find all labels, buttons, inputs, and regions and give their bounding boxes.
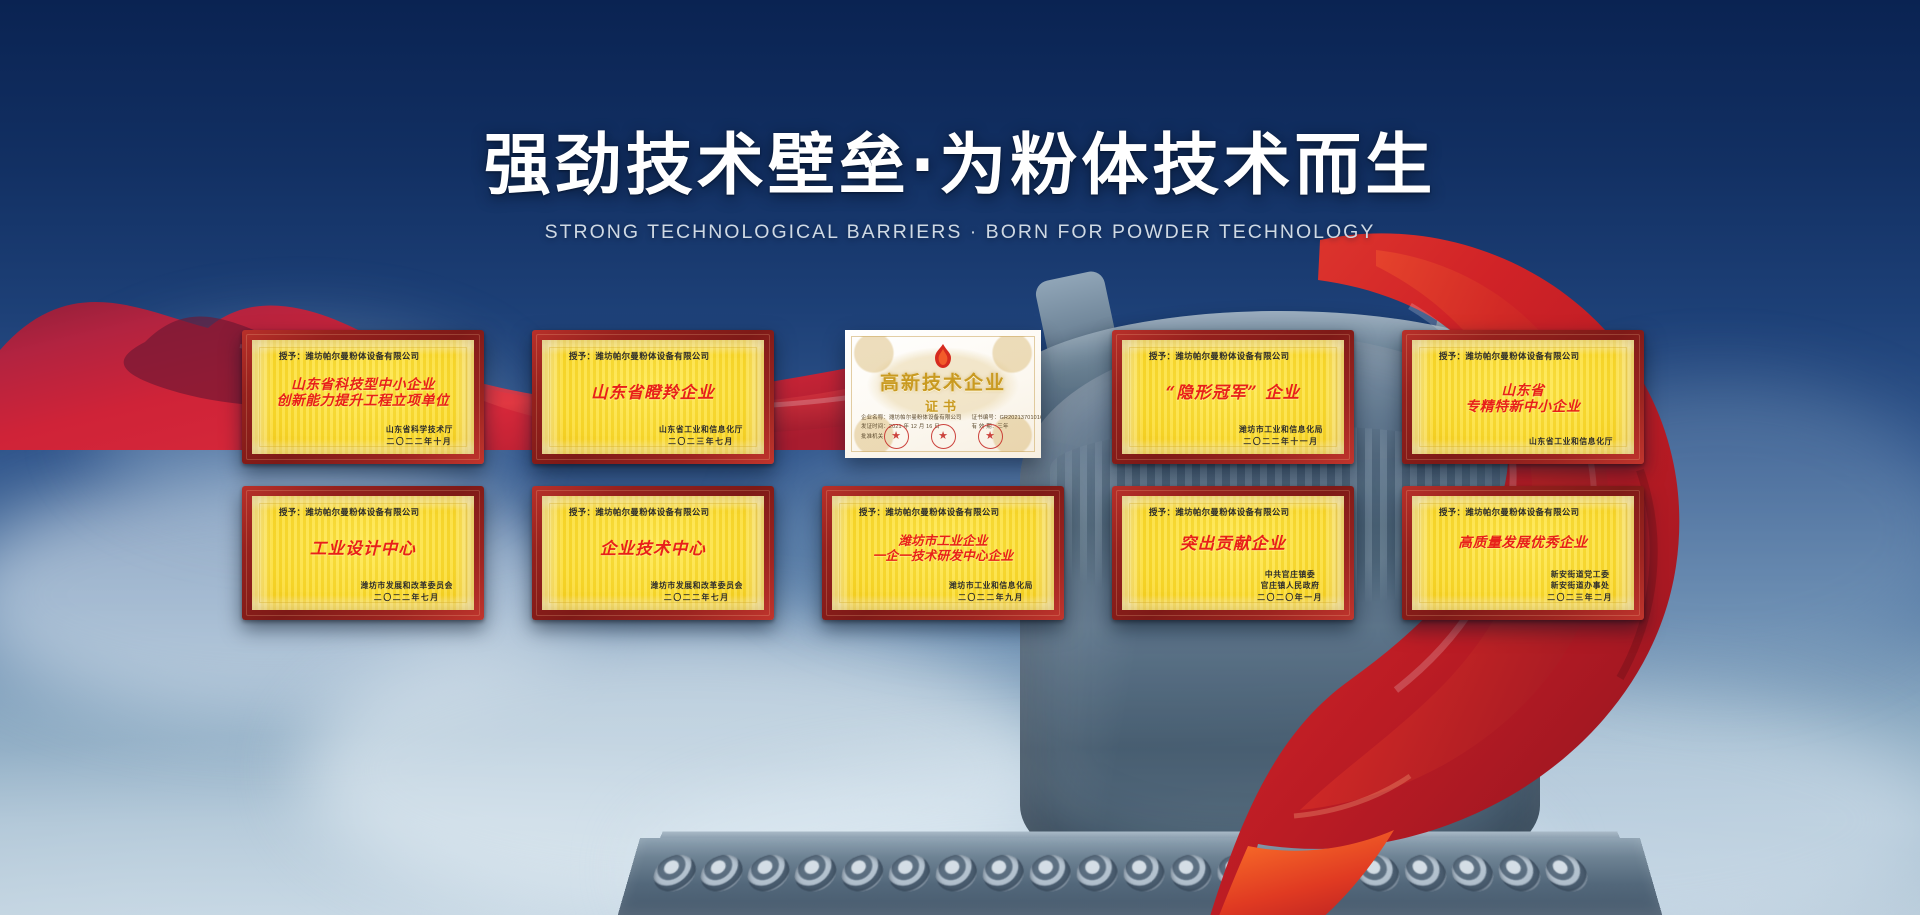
award-issuer-line: 山东省工业和信息化厅 [1529,436,1613,447]
award-grantee: 授予：潍坊帕尔曼粉体设备有限公司 [279,506,419,518]
award-issuer: 山东省工业和信息化厅 二〇二三年七月 [659,424,743,447]
plinth-medallion [697,855,746,892]
plinth-medallion-row [624,853,1656,894]
award-issuer: 新安街道党工委 新安街道办事处 二〇二三年二月 [1547,569,1613,603]
plinth-medallion [1495,855,1544,892]
award-title: 企业技术中心 [553,518,753,580]
award-date: 二〇二〇年一月 [1257,592,1323,603]
award-issuer-line: 潍坊市工业和信息化局 [1239,424,1323,435]
award-plate: 授予：潍坊帕尔曼粉体设备有限公司 高质量发展优秀企业 新安街道党工委 新安街道办… [1412,496,1634,610]
award-cell: 高新技术企业 证书 企业名称：潍坊帕尔曼粉体设备有限公司 发证时间：2021 年… [798,330,1088,464]
award-plate: 授予：潍坊帕尔曼粉体设备有限公司 山东省 专精特新中小企业 山东省工业和信息化厅 [1412,340,1634,454]
award-plaque[interactable]: 授予：潍坊帕尔曼粉体设备有限公司 潍坊市工业企业 一企一技术研发中心企业 潍坊市… [822,486,1064,620]
plinth-medallion [1310,855,1355,892]
award-title-line: “隐形冠军” 企业 [1166,383,1301,402]
award-plaque[interactable]: 授予：潍坊帕尔曼粉体设备有限公司 突出贡献企业 中共官庄镇委 官庄镇人民政府 二… [1112,486,1354,620]
award-issuer: 山东省工业和信息化厅 [1529,436,1613,447]
award-title-line: 企业技术中心 [600,539,706,558]
award-plate: 授予：潍坊帕尔曼粉体设备有限公司 突出贡献企业 中共官庄镇委 官庄镇人民政府 二… [1122,496,1344,610]
plinth-medallion [886,855,932,892]
headline-block: 强劲技术壁垒·为粉体技术而生 STRONG TECHNOLOGICAL BARR… [0,128,1920,244]
award-plaque[interactable]: 授予：潍坊帕尔曼粉体设备有限公司 山东省 专精特新中小企业 山东省工业和信息化厅 [1402,330,1644,464]
award-cell: 授予：潍坊帕尔曼粉体设备有限公司 山东省 专精特新中小企业 山东省工业和信息化厅 [1378,330,1668,464]
award-cell: 授予：潍坊帕尔曼粉体设备有限公司 “隐形冠军” 企业 潍坊市工业和信息化局 二〇… [1088,330,1378,464]
flame-icon [932,344,954,368]
award-cell: 授予：潍坊帕尔曼粉体设备有限公司 企业技术中心 潍坊市发展和改革委员会 二〇二二… [508,486,798,620]
award-plaque[interactable]: 授予：潍坊帕尔曼粉体设备有限公司 高质量发展优秀企业 新安街道党工委 新安街道办… [1402,486,1644,620]
award-title: 突出贡献企业 [1133,518,1333,569]
award-grantee: 授予：潍坊帕尔曼粉体设备有限公司 [859,506,999,518]
award-grantee: 授予：潍坊帕尔曼粉体设备有限公司 [1149,350,1289,362]
plinth-medallion [1356,855,1402,892]
plinth-medallion [1449,855,1497,892]
award-plaque[interactable]: 授予：潍坊帕尔曼粉体设备有限公司 “隐形冠军” 企业 潍坊市工业和信息化局 二〇… [1112,330,1354,464]
award-grantee: 授予：潍坊帕尔曼粉体设备有限公司 [1439,350,1579,362]
award-plaque[interactable]: 授予：潍坊帕尔曼粉体设备有限公司 山东省瞪羚企业 山东省工业和信息化厅 二〇二三… [532,330,774,464]
awards-row-1: 授予：潍坊帕尔曼粉体设备有限公司 山东省科技型中小企业 创新能力提升工程立项单位… [218,330,1718,464]
plinth-medallion [1542,855,1592,892]
plinth-medallion [981,855,1025,892]
award-plate: 授予：潍坊帕尔曼粉体设备有限公司 潍坊市工业企业 一企一技术研发中心企业 潍坊市… [832,496,1054,610]
plinth-medallion [1124,855,1165,892]
award-title-line: 一企一技术研发中心企业 [873,549,1014,564]
award-issuer: 潍坊市工业和信息化局 二〇二二年九月 [949,580,1033,603]
award-cell: 授予：潍坊帕尔曼粉体设备有限公司 潍坊市工业企业 一企一技术研发中心企业 潍坊市… [798,486,1088,620]
banner-stage: 强劲技术壁垒·为粉体技术而生 STRONG TECHNOLOGICAL BARR… [0,0,1920,915]
award-date: 二〇二二年十一月 [1239,436,1323,447]
award-issuer: 中共官庄镇委 官庄镇人民政府 二〇二〇年一月 [1257,569,1323,603]
plinth-medallion [1263,855,1307,892]
award-title-line: 山东省瞪羚企业 [591,383,715,402]
page-title: 强劲技术壁垒·为粉体技术而生 [0,128,1920,203]
page-subtitle: STRONG TECHNOLOGICAL BARRIERS · BORN FOR… [0,221,1920,244]
award-date: 二〇二三年七月 [659,436,743,447]
award-cell: 授予：潍坊帕尔曼粉体设备有限公司 工业设计中心 潍坊市发展和改革委员会 二〇二二… [218,486,508,620]
award-issuer-line: 潍坊市工业和信息化局 [949,580,1033,591]
award-date: 二〇二二年七月 [651,592,743,603]
plinth-medallion [839,855,886,892]
certificate-title-main: 高新技术企业 [845,368,1041,395]
award-plate: 授予：潍坊帕尔曼粉体设备有限公司 工业设计中心 潍坊市发展和改革委员会 二〇二二… [252,496,474,610]
award-plaque[interactable]: 授予：潍坊帕尔曼粉体设备有限公司 山东省科技型中小企业 创新能力提升工程立项单位… [242,330,484,464]
award-issuer-line: 新安街道党工委 [1547,569,1613,580]
award-title: 山东省科技型中小企业 创新能力提升工程立项单位 [263,362,463,424]
plinth-medallion [1029,855,1072,892]
awards-row-2: 授予：潍坊帕尔曼粉体设备有限公司 工业设计中心 潍坊市发展和改革委员会 二〇二二… [218,486,1718,620]
certificate-field: 企业名称：潍坊帕尔曼粉体设备有限公司 [861,414,962,423]
award-title-line: 创新能力提升工程立项单位 [277,393,450,409]
awards-gallery: 授予：潍坊帕尔曼粉体设备有限公司 山东省科技型中小企业 创新能力提升工程立项单位… [218,330,1718,620]
award-date: 二〇二二年七月 [361,592,453,603]
award-plaque[interactable]: 授予：潍坊帕尔曼粉体设备有限公司 企业技术中心 潍坊市发展和改革委员会 二〇二二… [532,486,774,620]
award-title: 山东省 专精特新中小企业 [1423,362,1623,436]
award-title: “隐形冠军” 企业 [1133,362,1333,424]
award-plate: 授予：潍坊帕尔曼粉体设备有限公司 山东省瞪羚企业 山东省工业和信息化厅 二〇二三… [542,340,764,454]
award-grantee: 授予：潍坊帕尔曼粉体设备有限公司 [1149,506,1289,518]
award-title-line: 专精特新中小企业 [1465,399,1580,415]
award-grantee: 授予：潍坊帕尔曼粉体设备有限公司 [279,350,419,362]
award-date: 二〇二二年十月 [386,436,453,447]
certificate-title-sub: 证书 [845,396,1041,415]
award-grantee: 授予：潍坊帕尔曼粉体设备有限公司 [1439,506,1579,518]
award-issuer-line: 官庄镇人民政府 [1257,580,1323,591]
award-cell: 授予：潍坊帕尔曼粉体设备有限公司 突出贡献企业 中共官庄镇委 官庄镇人民政府 二… [1088,486,1378,620]
plinth-medallion [1217,855,1260,892]
official-seal-icon: ★ [884,424,909,449]
award-issuer-line: 山东省工业和信息化厅 [659,424,743,435]
award-plate: 授予：潍坊帕尔曼粉体设备有限公司 企业技术中心 潍坊市发展和改革委员会 二〇二二… [542,496,764,610]
award-plate: 授予：潍坊帕尔曼粉体设备有限公司 “隐形冠军” 企业 潍坊市工业和信息化局 二〇… [1122,340,1344,454]
award-title-line: 高质量发展优秀企业 [1458,535,1588,551]
award-title-line: 山东省 [1501,383,1544,399]
official-seal-icon: ★ [978,424,1003,449]
award-title-line: 突出贡献企业 [1180,534,1286,553]
award-issuer-line: 山东省科学技术厅 [386,424,453,435]
award-title: 工业设计中心 [263,518,463,580]
plinth-medallion [792,855,840,892]
plinth-medallion [934,855,979,892]
award-date: 二〇二二年九月 [949,592,1033,603]
certificate-field: 证书编号：GR202137010162 [972,414,1041,423]
stone-plinth [618,838,1663,915]
plinth-medallion [1170,855,1212,892]
award-title-line: 潍坊市工业企业 [898,534,988,549]
plinth-medallion [1076,855,1118,892]
award-plate: 授予：潍坊帕尔曼粉体设备有限公司 山东省科技型中小企业 创新能力提升工程立项单位… [252,340,474,454]
award-date: 二〇二三年二月 [1547,592,1613,603]
award-issuer: 潍坊市工业和信息化局 二〇二二年十一月 [1239,424,1323,447]
award-grantee: 授予：潍坊帕尔曼粉体设备有限公司 [569,350,709,362]
award-grantee: 授予：潍坊帕尔曼粉体设备有限公司 [569,506,709,518]
award-title-line: 工业设计中心 [310,539,416,558]
certificate-title: 高新技术企业 证书 [845,368,1041,415]
award-issuer: 山东省科学技术厅 二〇二二年十月 [386,424,453,447]
award-cell: 授予：潍坊帕尔曼粉体设备有限公司 高质量发展优秀企业 新安街道党工委 新安街道办… [1378,486,1668,620]
certificate-seals: ★ ★ ★ [845,424,1041,449]
high-tech-enterprise-certificate[interactable]: 高新技术企业 证书 企业名称：潍坊帕尔曼粉体设备有限公司 发证时间：2021 年… [845,330,1041,458]
award-title: 潍坊市工业企业 一企一技术研发中心企业 [843,518,1043,580]
award-cell: 授予：潍坊帕尔曼粉体设备有限公司 山东省瞪羚企业 山东省工业和信息化厅 二〇二三… [508,330,798,464]
plinth-medallion [649,855,699,892]
award-issuer: 潍坊市发展和改革委员会 二〇二二年七月 [361,580,453,603]
award-issuer: 潍坊市发展和改革委员会 二〇二二年七月 [651,580,743,603]
award-title-line: 山东省科技型中小企业 [291,377,435,393]
award-title: 山东省瞪羚企业 [553,362,753,424]
award-plaque[interactable]: 授予：潍坊帕尔曼粉体设备有限公司 工业设计中心 潍坊市发展和改革委员会 二〇二二… [242,486,484,620]
award-issuer-line: 中共官庄镇委 [1257,569,1323,580]
award-issuer-line: 潍坊市发展和改革委员会 [361,580,453,591]
plinth-medallion [744,855,793,892]
award-title: 高质量发展优秀企业 [1423,518,1623,569]
award-issuer-line: 新安街道办事处 [1547,580,1613,591]
plinth-medallion [1403,855,1450,892]
award-cell: 授予：潍坊帕尔曼粉体设备有限公司 山东省科技型中小企业 创新能力提升工程立项单位… [218,330,508,464]
official-seal-icon: ★ [931,424,956,449]
award-issuer-line: 潍坊市发展和改革委员会 [651,580,743,591]
